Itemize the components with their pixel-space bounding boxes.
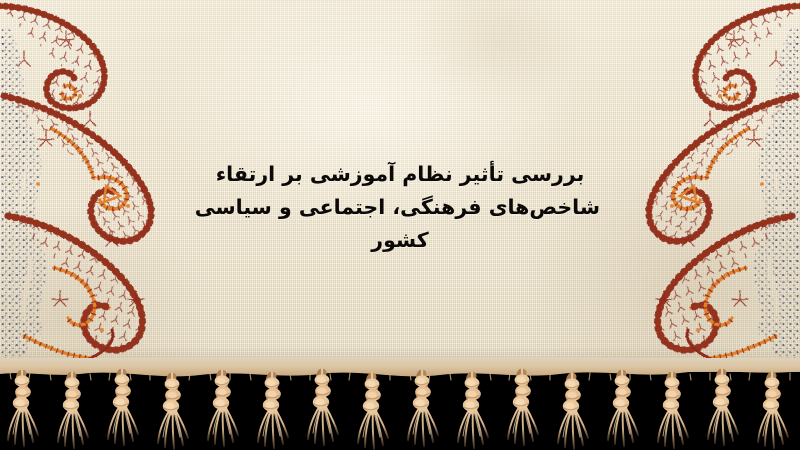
tassel-row: [8, 373, 788, 449]
title-line-3: کشور: [200, 224, 600, 257]
title-card-canvas: بررسی تأثیر نظام آموزشی بر ارتقاء شاخص‌ه…: [0, 0, 800, 450]
knotted-tassel-fringe: [0, 358, 800, 450]
page-title: بررسی تأثیر نظام آموزشی بر ارتقاء شاخص‌ه…: [200, 158, 600, 257]
title-line-1: بررسی تأثیر نظام آموزشی بر ارتقاء: [200, 158, 600, 191]
title-line-2: شاخص‌های فرهنگی، اجتماعی و سیاسی: [200, 191, 600, 224]
